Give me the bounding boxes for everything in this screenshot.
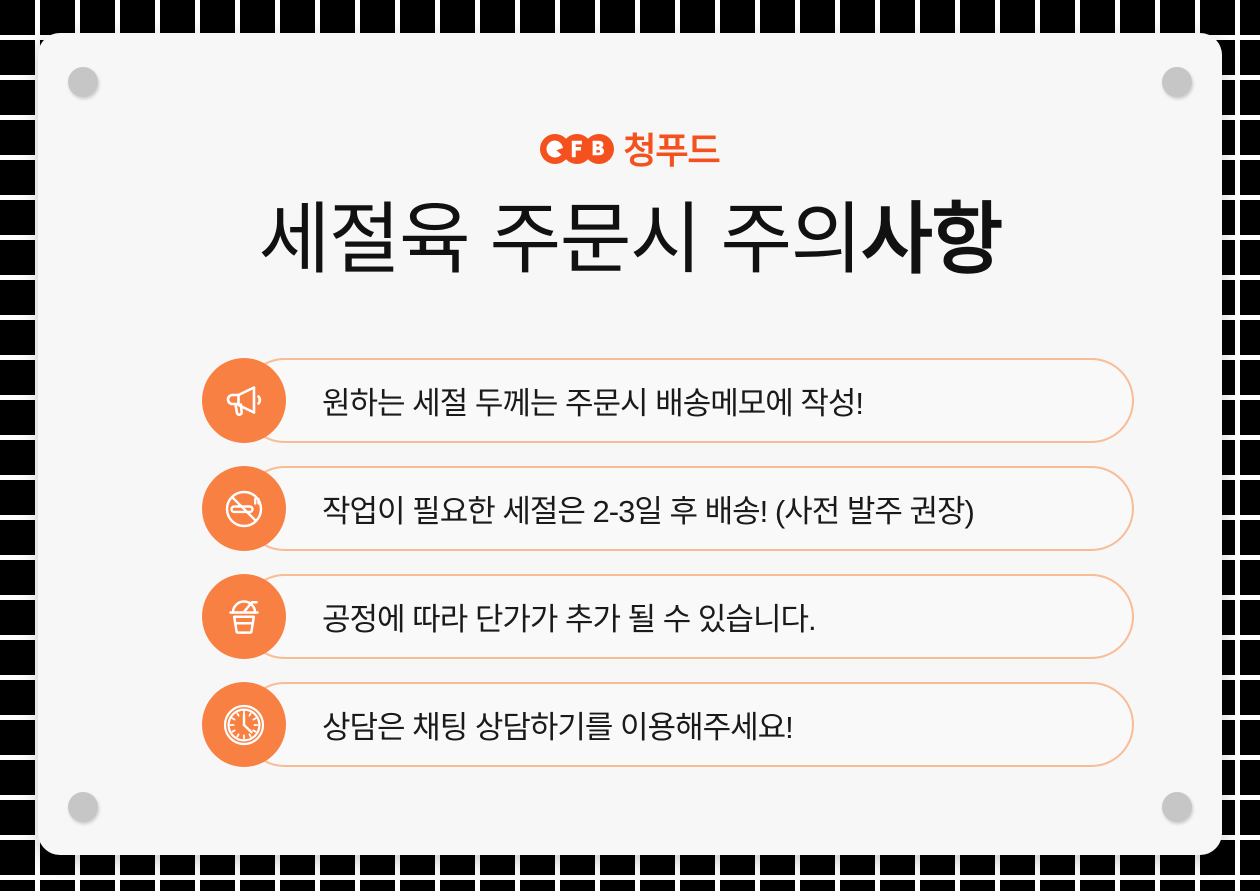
notice-text: 작업이 필요한 세절은 2-3일 후 배송! (사전 발주 권장) xyxy=(244,486,974,531)
poster-background: 청푸드 세절육 주문시 주의사항 원하는 세절 두께는 주문시 배송메모에 작성… xyxy=(0,0,1260,891)
notice-text: 상담은 채팅 상담하기를 이용해주세요! xyxy=(244,702,793,747)
notice-pill: 작업이 필요한 세절은 2-3일 후 배송! (사전 발주 권장) xyxy=(242,466,1134,551)
brand-logo: 청푸드 xyxy=(38,128,1222,174)
megaphone-icon xyxy=(202,358,286,443)
no-smoking-icon xyxy=(202,466,286,551)
notice-row: 원하는 세절 두께는 주문시 배송메모에 작성! xyxy=(202,358,1134,443)
page-title: 세절육 주문시 주의사항 xyxy=(38,196,1222,283)
screw-top-left xyxy=(68,67,98,97)
notice-row: 작업이 필요한 세절은 2-3일 후 배송! (사전 발주 권장) xyxy=(202,466,1134,551)
notice-pill: 원하는 세절 두께는 주문시 배송메모에 작성! xyxy=(242,358,1134,443)
notice-pill: 상담은 채팅 상담하기를 이용해주세요! xyxy=(242,682,1134,767)
screw-bottom-left xyxy=(68,792,98,822)
notice-text: 공정에 따라 단가가 추가 될 수 있습니다. xyxy=(244,594,816,639)
notice-card: 청푸드 세절육 주문시 주의사항 원하는 세절 두께는 주문시 배송메모에 작성… xyxy=(38,33,1222,855)
page-title-bold: 사항 xyxy=(861,195,1002,283)
notice-row: 공정에 따라 단가가 추가 될 수 있습니다. xyxy=(202,574,1134,659)
notice-list: 원하는 세절 두께는 주문시 배송메모에 작성! 작업이 필요한 세절은 2-3… xyxy=(202,358,1134,790)
drink-cup-icon xyxy=(202,574,286,659)
cfb-logo-icon xyxy=(540,134,614,169)
screw-top-right xyxy=(1162,67,1192,97)
screw-bottom-right xyxy=(1162,792,1192,822)
notice-pill: 공정에 따라 단가가 추가 될 수 있습니다. xyxy=(242,574,1134,659)
notice-text: 원하는 세절 두께는 주문시 배송메모에 작성! xyxy=(244,378,863,423)
page-title-normal: 세절육 주문시 주의 xyxy=(259,195,861,283)
clock-icon xyxy=(202,682,286,767)
notice-row: 상담은 채팅 상담하기를 이용해주세요! xyxy=(202,682,1134,767)
brand-name-text: 청푸드 xyxy=(623,133,719,169)
